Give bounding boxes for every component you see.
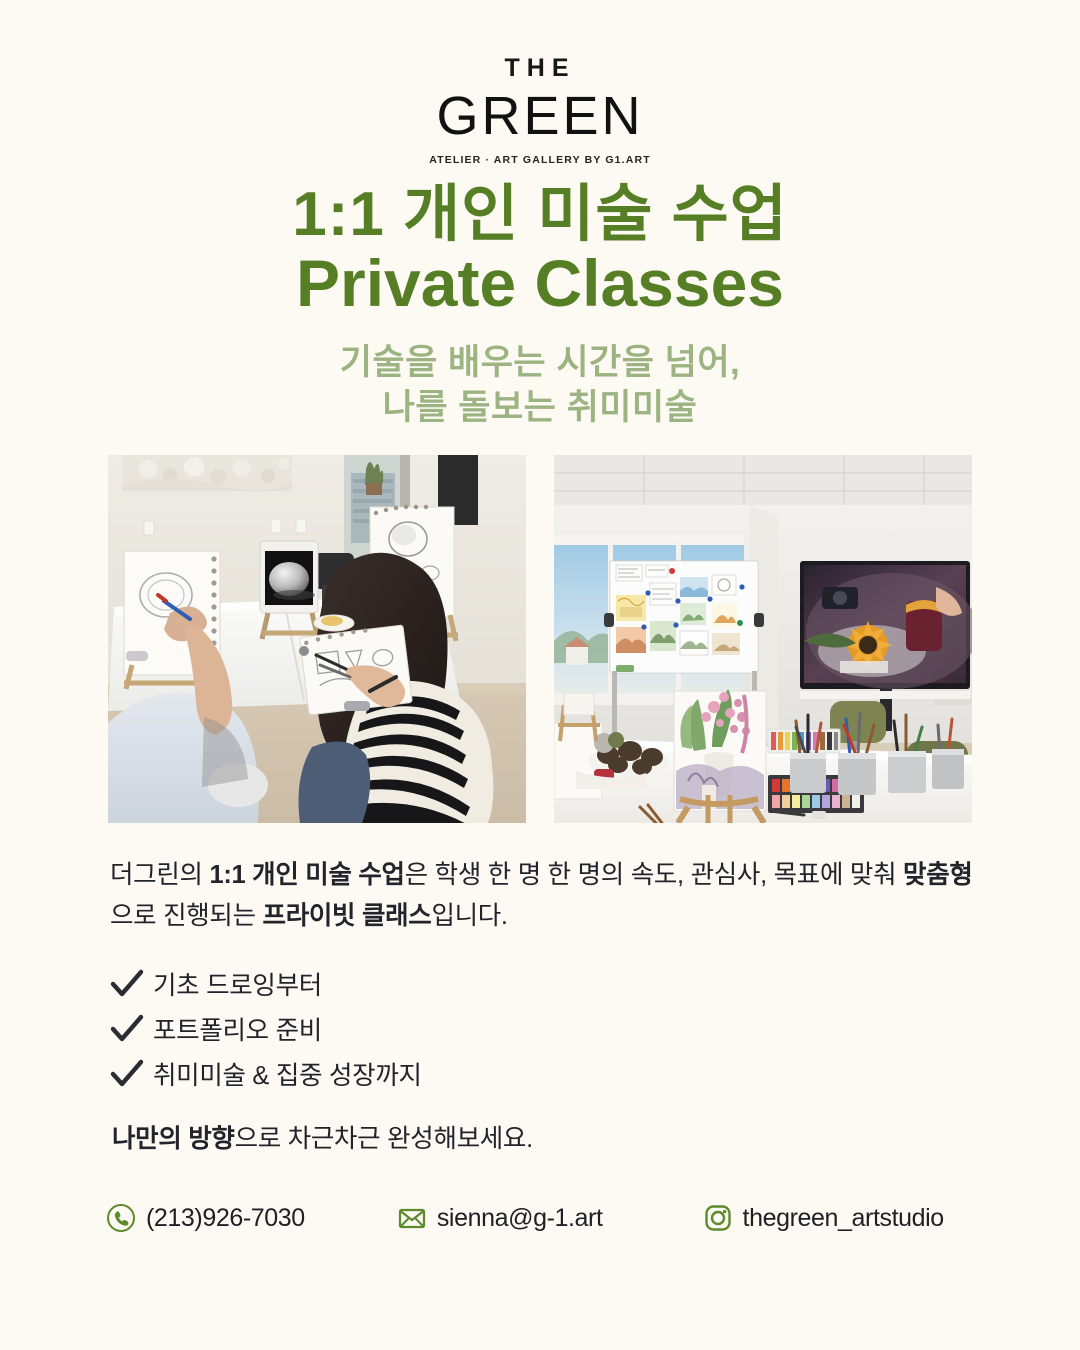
closing-rest: 으로 차근차근 완성해보세요. <box>235 1125 533 1153</box>
photo-private-lesson-drawing <box>108 455 526 823</box>
poster-root: THE GREEN ATELIER · ART GALLERY BY G1.AR… <box>0 0 1080 1350</box>
page-title: 1:1 개인 미술 수업 Private Classes <box>0 184 1080 317</box>
logo-tagline-text: ATELIER · ART GALLERY BY G1.ART <box>0 154 1080 166</box>
contact-email[interactable]: sienna@g-1.art <box>397 1203 603 1233</box>
email-address: sienna@g-1.art <box>437 1204 603 1233</box>
body-part-1: 더그린의 <box>110 861 209 889</box>
body-bold-3: 프라이빗 클래스 <box>263 902 432 930</box>
body-bold-1: 1:1 개인 미술 수업 <box>209 861 404 889</box>
subtitle: 기술을 배우는 시간을 넘어, 나를 돌보는 취미미술 <box>0 341 1080 431</box>
contact-footer: (213)926-7030 sienna@g-1.art thegree <box>106 1203 996 1233</box>
check-icon <box>110 1059 144 1089</box>
list-item-label: 포트폴리오 준비 <box>153 1010 322 1047</box>
closing-bold: 나만의 방향 <box>112 1125 235 1153</box>
subtitle-line-2: 나를 돌보는 취미미술 <box>0 386 1080 431</box>
list-item: 기초 드로잉부터 <box>110 963 810 1003</box>
photo-gallery <box>108 455 972 823</box>
check-icon <box>110 969 144 999</box>
photo-right-illustration <box>554 455 972 823</box>
feature-checklist: 기초 드로잉부터 포트폴리오 준비 취미미술 & 집중 성장까지 <box>110 963 810 1098</box>
logo-green-text: GREEN <box>0 87 1080 146</box>
instagram-handle: thegreen_artstudio <box>743 1204 944 1233</box>
subtitle-line-1: 기술을 배우는 시간을 넘어, <box>0 341 1080 386</box>
phone-number: (213)926-7030 <box>146 1204 305 1233</box>
photo-studio-interior <box>554 455 972 823</box>
list-item: 포트폴리오 준비 <box>110 1008 810 1048</box>
contact-instagram[interactable]: thegreen_artstudio <box>703 1203 944 1233</box>
check-icon <box>110 1014 144 1044</box>
envelope-icon <box>397 1203 427 1233</box>
brand-logo: THE GREEN ATELIER · ART GALLERY BY G1.AR… <box>0 56 1080 166</box>
body-bold-2: 맞춤형 <box>903 861 972 889</box>
list-item-label: 기초 드로잉부터 <box>153 965 322 1002</box>
phone-icon <box>106 1203 136 1233</box>
headline-korean: 1:1 개인 미술 수업 <box>0 184 1080 245</box>
body-part-2: 은 학생 한 명 한 명의 속도, 관심사, 목표에 맞춰 <box>405 861 903 889</box>
body-part-3: 으로 진행되는 <box>110 902 263 930</box>
description-paragraph: 더그린의 1:1 개인 미술 수업은 학생 한 명 한 명의 속도, 관심사, … <box>110 855 990 938</box>
headline-english: Private Classes <box>0 251 1080 316</box>
photo-left-illustration <box>108 455 526 823</box>
closing-line: 나만의 방향으로 차근차근 완성해보세요. <box>112 1118 912 1155</box>
list-item: 취미미술 & 집중 성장까지 <box>110 1053 810 1093</box>
instagram-icon <box>703 1203 733 1233</box>
list-item-label: 취미미술 & 집중 성장까지 <box>153 1055 422 1092</box>
logo-the-text: THE <box>0 56 1080 81</box>
contact-phone[interactable]: (213)926-7030 <box>106 1203 305 1233</box>
body-part-4: 입니다. <box>431 902 507 930</box>
